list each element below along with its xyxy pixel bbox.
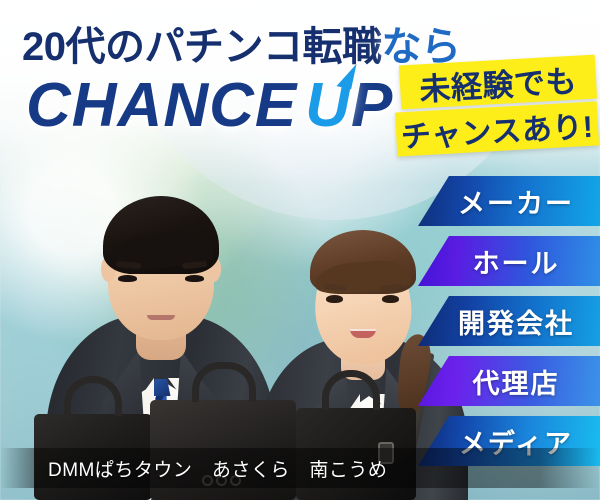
man-mouth — [147, 315, 175, 320]
man-eye-right — [185, 275, 204, 282]
woman-eye-right — [382, 295, 399, 303]
brand-logo: CHANCEUP — [26, 70, 393, 141]
badge-1-label: 未経験でも — [418, 55, 578, 109]
caption-text: DMMぱちタウン あさくら 南こうめ — [48, 455, 387, 482]
bag-handle-middle — [192, 362, 256, 402]
headline-main: 20代のパチンコ転職 — [22, 25, 382, 69]
category-button-agency[interactable]: 代理店 — [418, 356, 600, 406]
category-button-maker[interactable]: メーカー — [418, 176, 600, 226]
man-eye-left — [118, 275, 137, 282]
category-label-maker: メーカー — [444, 182, 574, 221]
category-label-agency: 代理店 — [459, 362, 560, 401]
logo-u-arrow-icon: U — [305, 70, 351, 141]
category-button-hall[interactable]: ホール — [418, 236, 600, 286]
woman-eye-left — [326, 295, 343, 303]
category-button-development-company[interactable]: 開発会社 — [418, 296, 600, 346]
promo-banner: 20代のパチンコ転職なら CHANCEUP 未経験でも チャンスあり! メーカー… — [0, 0, 600, 500]
category-label-hall: ホール — [459, 242, 560, 281]
category-button-list: メーカー ホール 開発会社 代理店 メディア — [418, 176, 600, 476]
logo-letter-p: P — [351, 71, 393, 140]
headline: 20代のパチンコ転職なら — [22, 14, 461, 72]
logo-word-chance: CHANCE — [26, 71, 297, 140]
caption-bar: DMMぱちタウン あさくら 南こうめ — [0, 448, 600, 488]
category-label-development-company: 開発会社 — [444, 302, 574, 341]
